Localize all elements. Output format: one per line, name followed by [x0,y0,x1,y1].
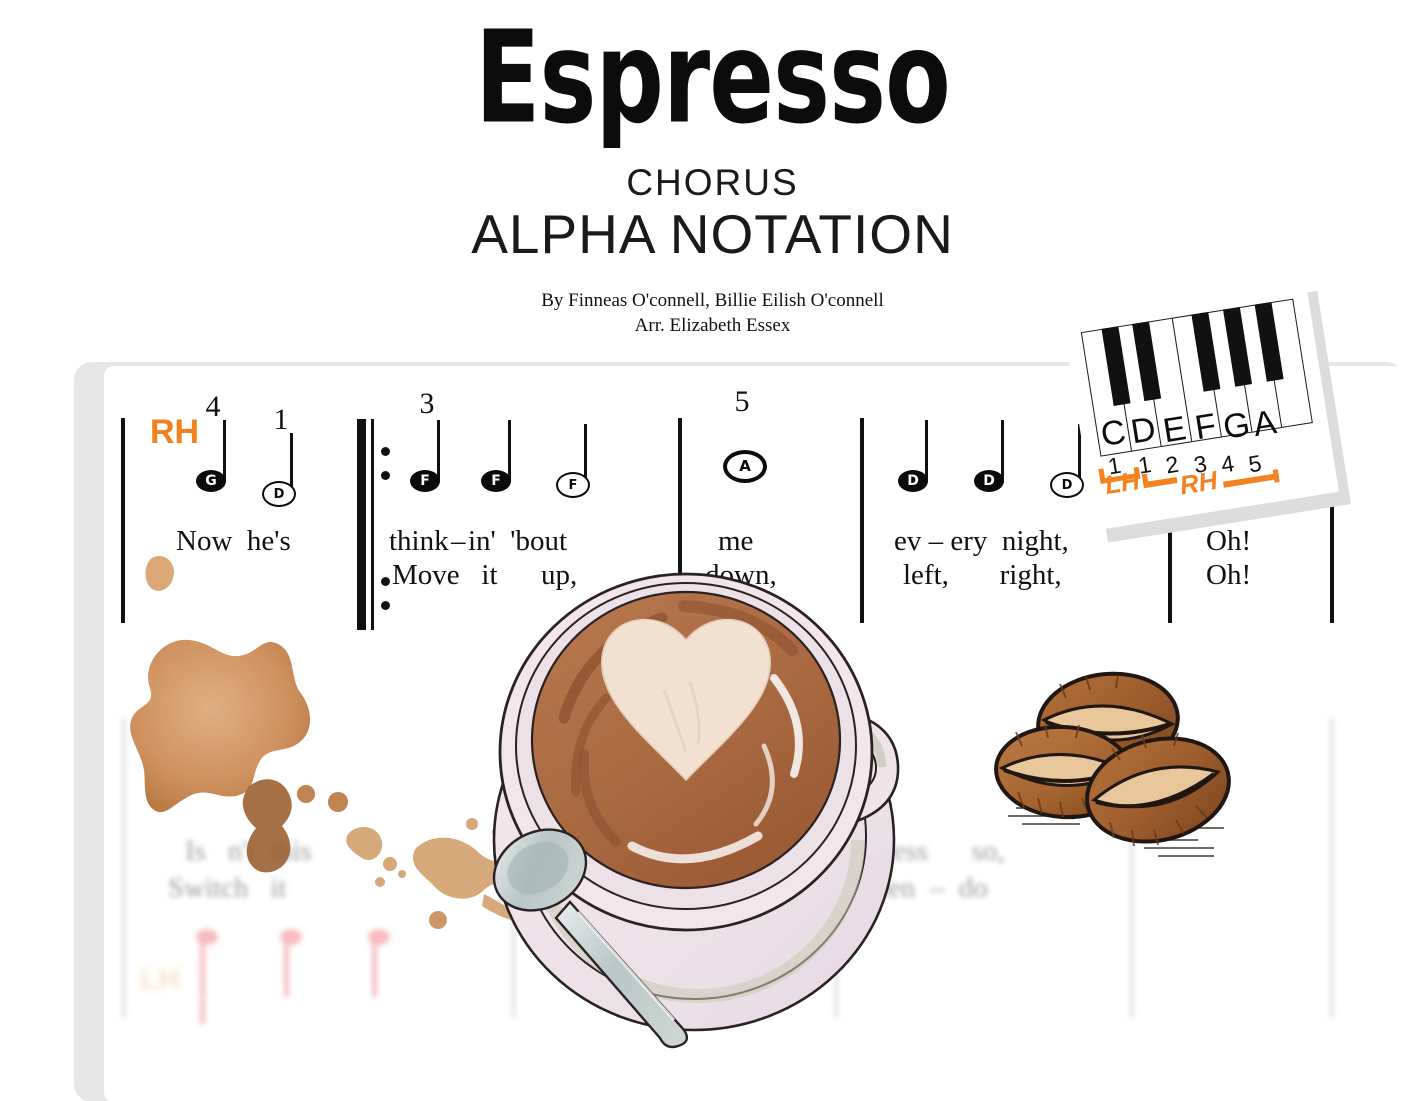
latte-cup-illustration [468,540,938,1050]
rh-bracket-right-tip [1273,469,1280,483]
coffee-stain-small [140,552,182,598]
sheet-music-page: Espresso CHORUS ALPHA NOTATION By Finnea… [0,0,1425,1101]
note-stem [200,998,205,1024]
keyboard-diagram: C D E F G A 1 1 2 3 4 5 LH RH [1062,278,1344,536]
barline [1330,718,1333,1018]
lh-bracket-label: LH [1103,467,1141,498]
rh-bracket-label: RH [1178,467,1219,499]
keyboard-card: C D E F G A 1 1 2 3 4 5 LH RH [1062,278,1339,530]
rh-finger-5: 5 [1247,452,1263,477]
key-label-a: A [1251,405,1279,442]
hand-label-lh: LH [140,963,180,997]
coffee-droplets [292,778,372,818]
key-label-g: G [1221,407,1252,445]
key-label-d: D [1128,412,1158,449]
rh-finger-4: 4 [1220,452,1236,477]
key-label-c: C [1099,415,1129,452]
coffee-beans-illustration [982,668,1244,868]
